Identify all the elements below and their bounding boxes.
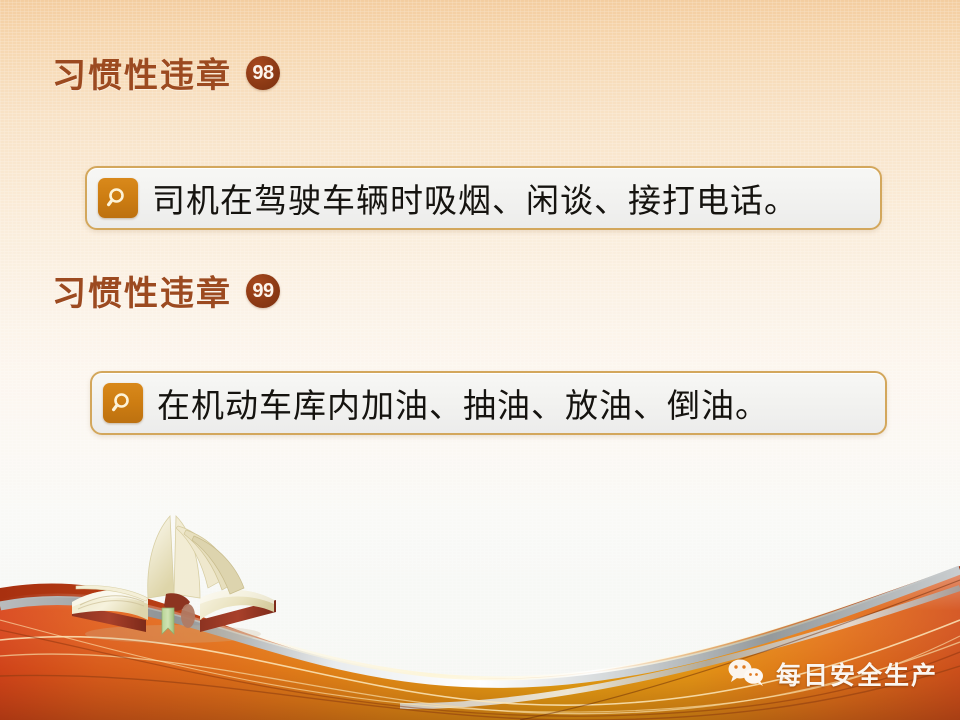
watermark-text: 每日安全生产: [776, 656, 938, 692]
statement-box-1: 司机在驾驶车辆时吸烟、闲谈、接打电话。: [85, 166, 882, 230]
section-heading-1: 习惯性违章 98: [52, 48, 280, 97]
watermark: 每日安全生产: [726, 656, 938, 692]
slide-canvas: 习惯性违章 98 司机在驾驶车辆时吸烟、闲谈、接打电话。 习惯性违章 99: [0, 0, 960, 720]
statement-text-1: 司机在驾驶车辆时吸烟、闲谈、接打电话。: [152, 174, 798, 222]
statement-box-2: 在机动车库内加油、抽油、放油、倒油。: [90, 371, 887, 435]
wechat-icon: [726, 657, 766, 692]
search-icon: [103, 383, 143, 423]
search-icon: [98, 178, 138, 218]
status-badge-99: 99: [246, 274, 280, 308]
statement-text-2: 在机动车库内加油、抽油、放油、倒油。: [157, 379, 769, 427]
heading-text-2: 习惯性违章: [52, 266, 232, 315]
heading-text-1: 习惯性违章: [52, 48, 232, 97]
section-heading-2: 习惯性违章 99: [52, 266, 280, 315]
status-badge-98: 98: [246, 56, 280, 90]
